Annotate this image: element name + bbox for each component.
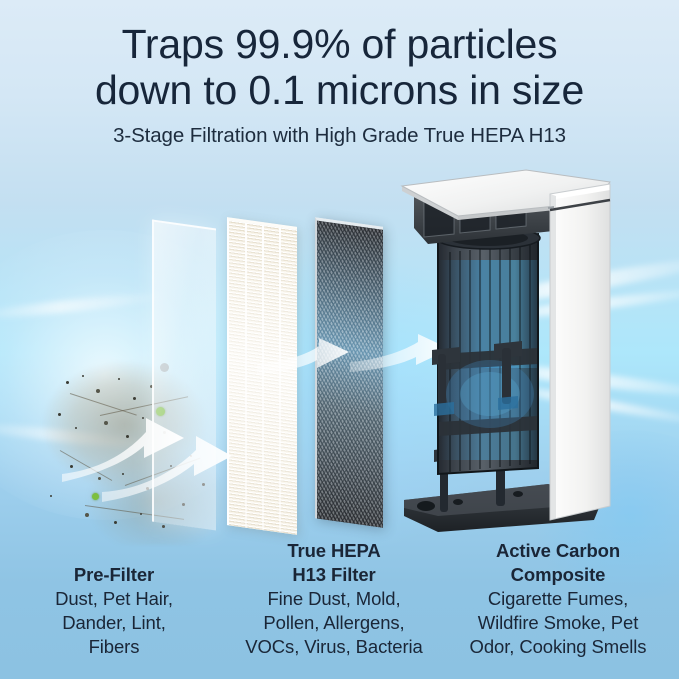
- dust-particle: [146, 487, 149, 490]
- dust-particle: [114, 521, 117, 524]
- product-infographic: Traps 99.9% of particles down to 0.1 mic…: [0, 0, 679, 679]
- dust-particle: [118, 378, 120, 380]
- dust-particle: [66, 381, 69, 384]
- caption-body: Cigarette Fumes,Wildfire Smoke, PetOdor,…: [440, 587, 676, 659]
- dust-particle: [142, 417, 144, 419]
- hepa-filter-panel: [227, 217, 297, 535]
- pleat-rib: [245, 223, 247, 528]
- headline-line-1: Traps 99.9% of particles: [0, 22, 679, 68]
- caption-title: Pre-Filter: [8, 563, 220, 587]
- caption-carbon-filter: Active CarbonComposite Cigarette Fumes,W…: [440, 539, 676, 659]
- caption-body: Fine Dust, Mold,Pollen, Allergens,VOCs, …: [218, 587, 450, 659]
- dust-particle: [70, 465, 73, 468]
- caption-body: Dust, Pet Hair,Dander, Lint,Fibers: [8, 587, 220, 659]
- airflow-wisp-6: [0, 419, 170, 453]
- dust-particle: [140, 513, 142, 515]
- dust-particle: [75, 427, 77, 429]
- dust-particle: [122, 473, 124, 475]
- pre-filter-panel: [152, 220, 216, 531]
- caption-title: Active CarbonComposite: [440, 539, 676, 587]
- dust-particle: [104, 421, 108, 425]
- caption-title: True HEPAH13 Filter: [218, 539, 450, 587]
- carbon-filter-panel: [315, 217, 383, 528]
- air-purifier-unit: [398, 168, 613, 543]
- pleat-rib: [262, 225, 264, 530]
- subtitle: 3-Stage Filtration with High Grade True …: [0, 124, 679, 148]
- purifier-outer-shell: [548, 184, 610, 520]
- fiber-strand: [60, 450, 112, 481]
- dust-particle: [162, 525, 165, 528]
- headline: Traps 99.9% of particles down to 0.1 mic…: [0, 22, 679, 114]
- caption-hepa-filter: True HEPAH13 Filter Fine Dust, Mold,Poll…: [218, 539, 450, 659]
- airflow-wisp-5: [0, 290, 170, 323]
- dust-particle: [85, 513, 89, 517]
- dust-particle: [98, 477, 101, 480]
- fiber-strand: [70, 393, 137, 416]
- dust-particle: [96, 389, 100, 393]
- dust-particle: [82, 375, 84, 377]
- headline-line-2: down to 0.1 microns in size: [0, 68, 679, 114]
- dust-particle: [58, 413, 61, 416]
- dust-particle: [133, 397, 136, 400]
- pollen-particle: [92, 493, 99, 500]
- pleat-rib: [279, 227, 281, 532]
- caption-pre-filter: Pre-Filter Dust, Pet Hair,Dander, Lint,F…: [8, 563, 220, 659]
- dust-particle: [126, 435, 129, 438]
- dust-particle: [50, 495, 52, 497]
